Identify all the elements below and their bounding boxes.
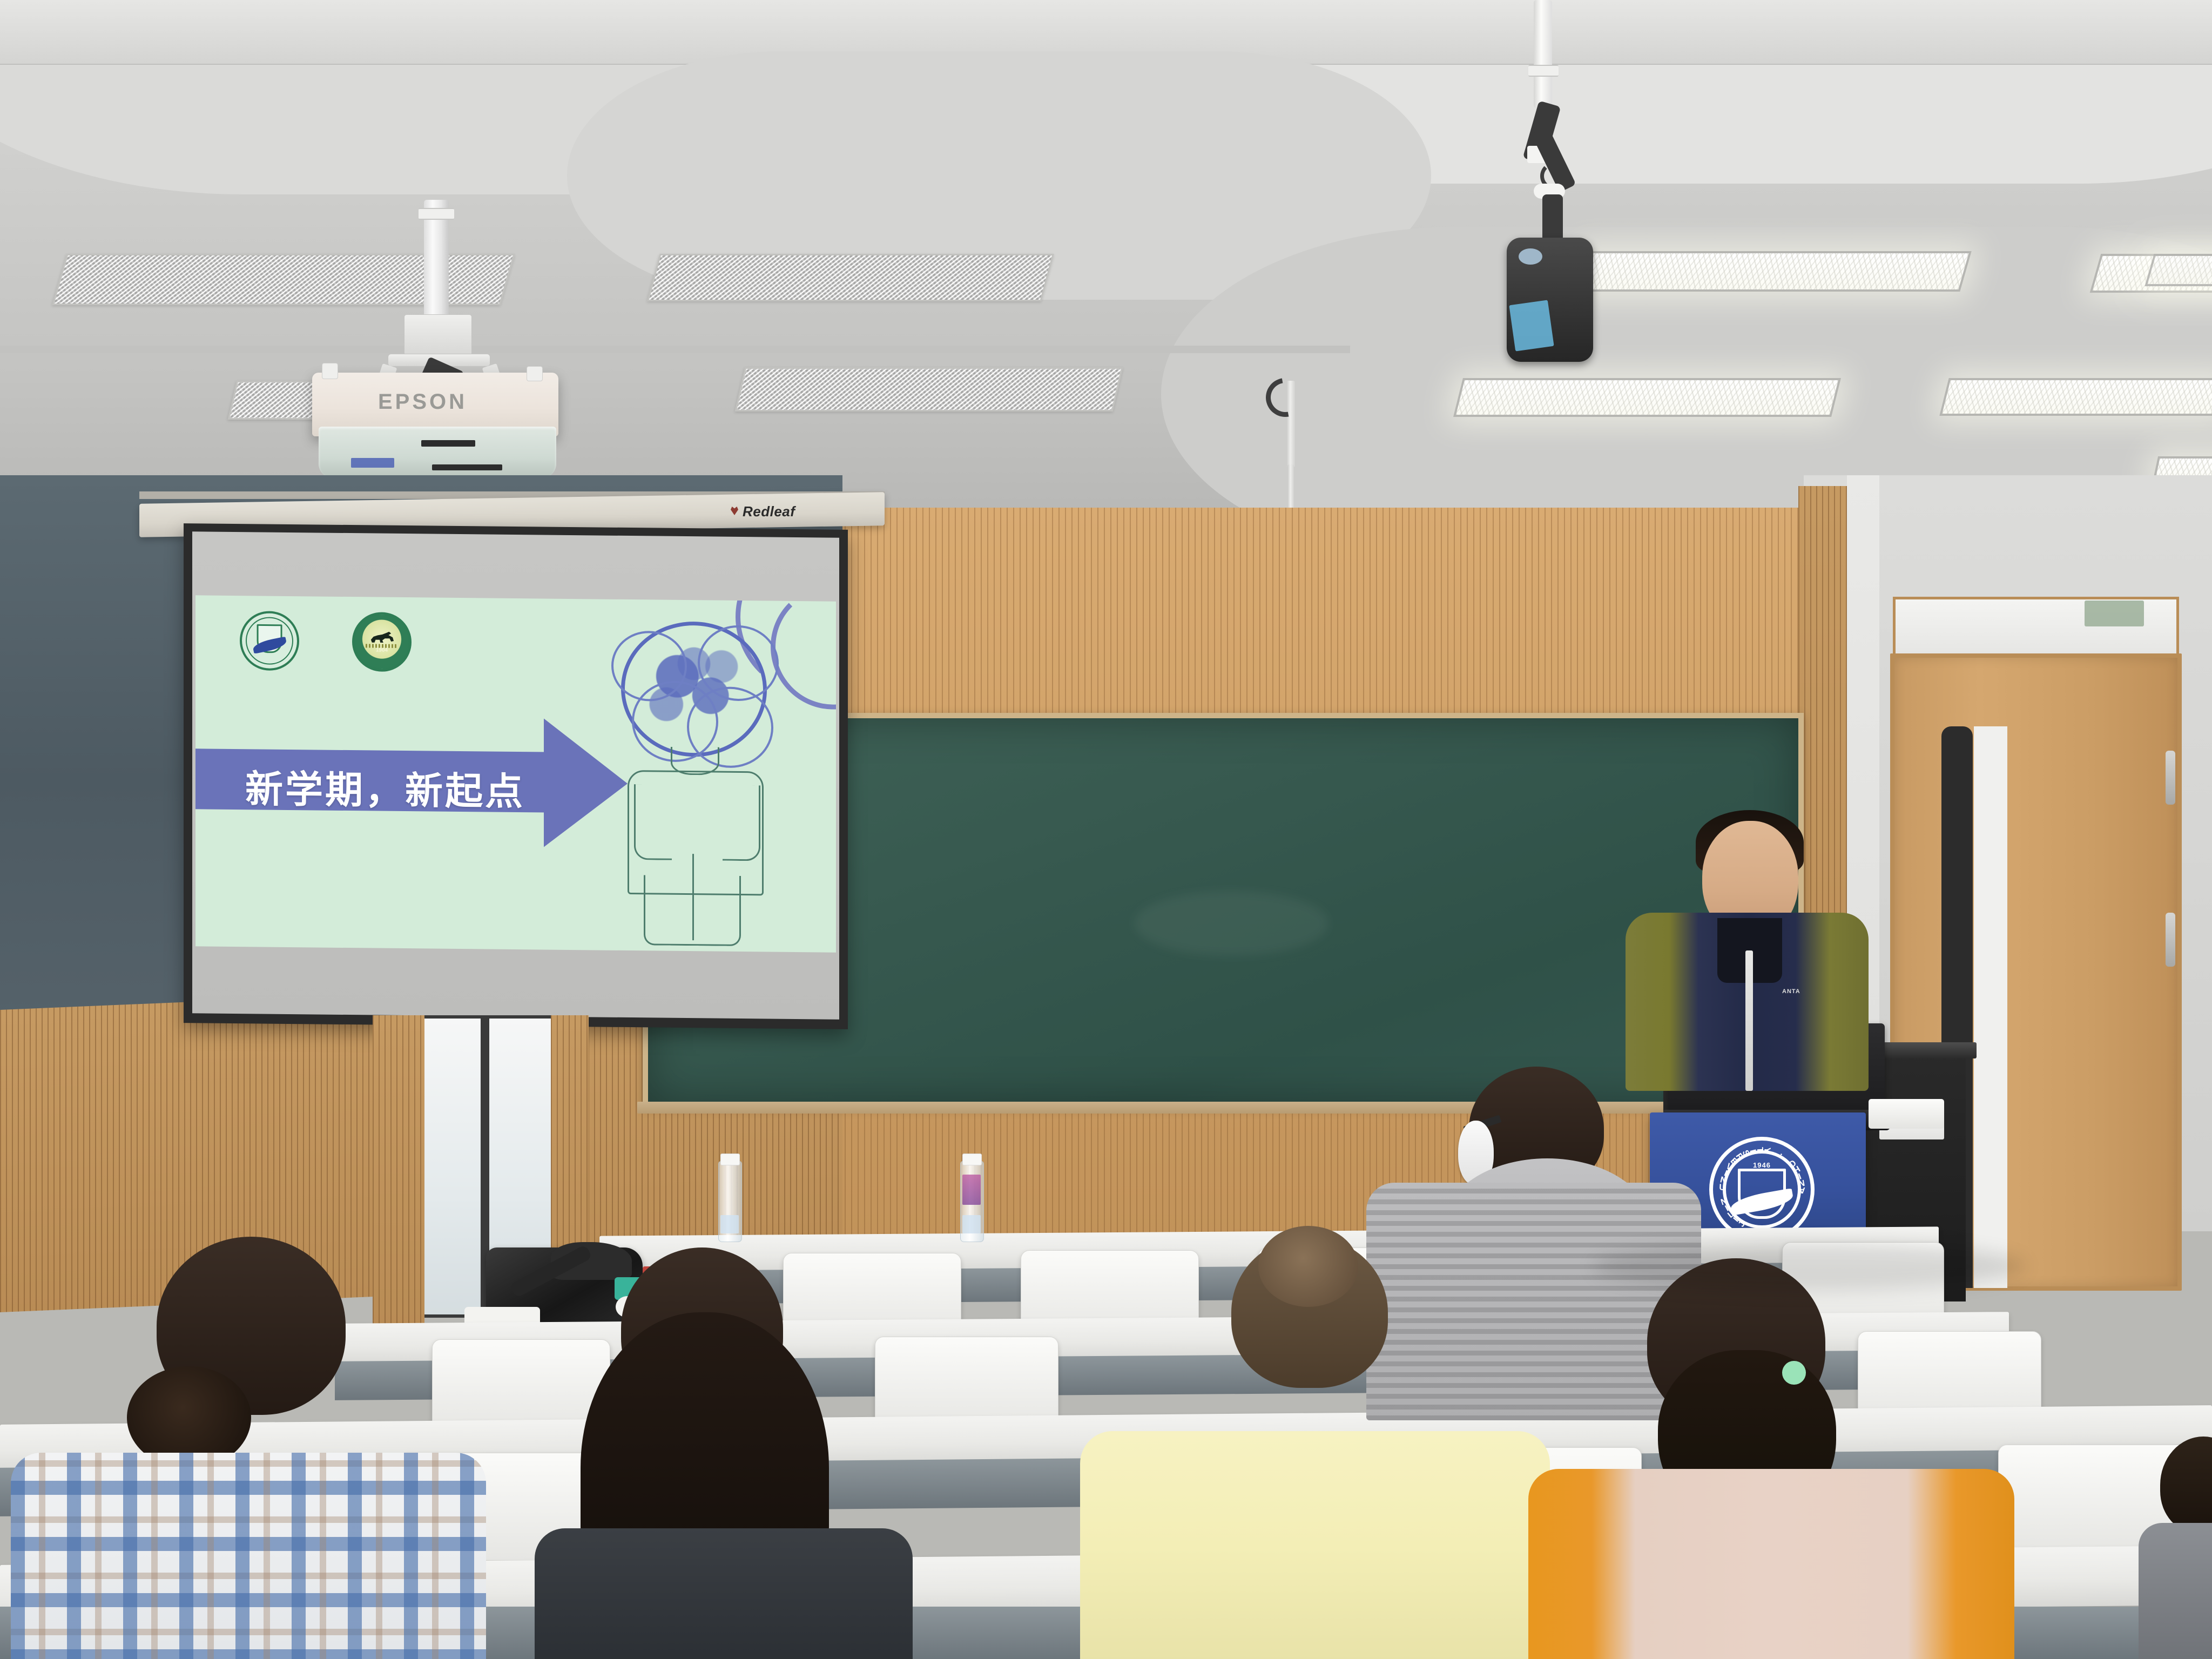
illustration-arm-left — [634, 784, 672, 860]
projection-screen-surface: 1904 新学期，新起点 — [192, 531, 839, 1020]
student-plaid-body — [11, 1453, 486, 1659]
student-hoodie-body — [1366, 1183, 1701, 1420]
slide-logo-jilin-university — [240, 611, 299, 671]
student-orange-body — [1528, 1469, 2014, 1659]
podium-shadow — [1593, 1242, 2025, 1291]
chalkboard-tray — [637, 1102, 1809, 1114]
slide-title: 新学期，新起点 — [245, 759, 525, 816]
door-handle-upper — [2166, 751, 2175, 805]
projector-vent-strip-1 — [421, 440, 475, 447]
ceiling-camera-label — [1509, 300, 1554, 351]
screen-brand-label: Redleaf — [743, 503, 795, 520]
student-far-right-body — [2139, 1523, 2212, 1659]
led-panel-light-3 — [1453, 378, 1841, 417]
projector-mount-plate — [404, 314, 472, 359]
door-transom-sign — [2085, 601, 2144, 626]
water-bottle-2-label-lower — [962, 1215, 981, 1233]
student-yellow-hair-bun — [1258, 1226, 1358, 1307]
projector-foot-right — [527, 366, 543, 381]
ceiling-camera-lens — [1519, 248, 1542, 265]
student-dark-body — [535, 1528, 913, 1659]
ceiling-band — [0, 346, 1350, 353]
ceiling-camera-collar — [1528, 65, 1559, 77]
water-bottle-2-label — [962, 1175, 981, 1205]
projected-slide: 1904 新学期，新起点 — [195, 595, 836, 952]
chalk-smudge-2 — [1134, 891, 1328, 956]
classroom-photo: EPSON Redleaf — [0, 0, 2212, 1659]
projector-foot-left — [322, 363, 338, 379]
ceiling-camera-pole — [1534, 0, 1552, 108]
led-panel-light-4 — [1939, 378, 2212, 416]
water-bottle-1-cap — [720, 1154, 740, 1165]
led-panel-light-1 — [1571, 251, 1972, 292]
slide-illustration — [606, 621, 806, 947]
vet-seal-horse-icon — [369, 631, 395, 645]
illustration-arm-right — [723, 785, 760, 861]
led-panel-light-6 — [2144, 254, 2212, 286]
slide-logo-vet-college: 1904 — [352, 612, 412, 672]
slide-squiggle-bottom-left — [195, 848, 298, 952]
air-diffuser-2 — [647, 254, 1054, 301]
projector-brand-label: EPSON — [378, 390, 467, 414]
water-bottle-2-cap — [962, 1154, 982, 1165]
presenter-jacket-brand: ANTA — [1782, 988, 1800, 995]
door-open-gap — [1974, 726, 2007, 1288]
presenter-jacket-zip — [1745, 950, 1753, 1091]
projector-sticker — [351, 458, 394, 468]
water-bottle-1-label — [720, 1215, 739, 1233]
projector-vent-strip-2 — [432, 464, 502, 470]
projector-collar — [419, 208, 454, 220]
window-jamb-left — [373, 1015, 424, 1328]
vet-seal-year: 1904 — [355, 647, 409, 653]
illustration-leg-line — [692, 854, 699, 940]
student-yellow-body — [1080, 1431, 1550, 1659]
podium-tissue-box — [1869, 1099, 1944, 1129]
podium-seal-arc-text: JILIN UNIVERSITY · CHINA — [1709, 1137, 1815, 1242]
door-handle-lower — [2166, 913, 2175, 967]
student-orange-hair-tie — [1782, 1361, 1806, 1385]
air-diffuser-3 — [735, 367, 1123, 412]
podium-university-seal: 1946 JILIN UNIVERSITY · CHINA — [1709, 1137, 1815, 1242]
